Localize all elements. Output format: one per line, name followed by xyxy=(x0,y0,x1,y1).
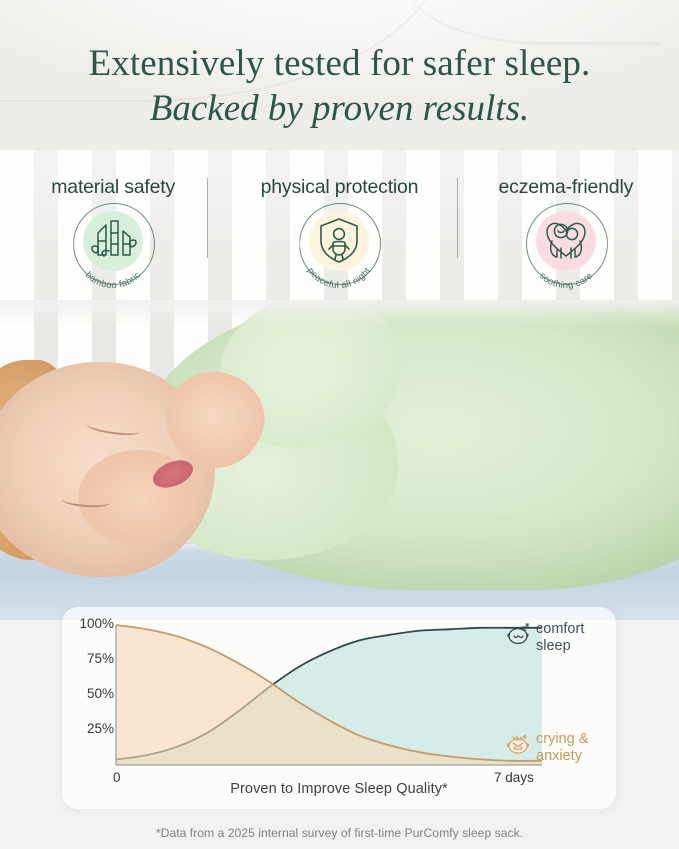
feature-eczema-friendly[interactable]: eczema-friendly xyxy=(453,176,679,285)
sleeping-baby-icon xyxy=(506,623,532,645)
y-axis-tick: 25% xyxy=(62,721,114,736)
legend-comfort-sleep: comfort sleep xyxy=(536,621,616,655)
headboard-scroll-detail xyxy=(407,0,659,45)
legend-label-line-1: comfort sleep xyxy=(536,621,584,654)
x-axis-tick-end: 7 days xyxy=(494,770,534,785)
badge-caption-arc: peaceful all night xyxy=(293,203,385,295)
photo-top-fade xyxy=(0,300,679,326)
page-title: Extensively tested for safer sleep. Back… xyxy=(0,42,679,132)
badge-caption-text: soothing care xyxy=(537,270,594,290)
badge-caption-text: bamboo fabric xyxy=(84,269,143,290)
badge-caption-arc: bamboo fabric xyxy=(67,203,159,295)
promo-page: Extensively tested for safer sleep. Back… xyxy=(0,0,679,849)
badge-caption-arc: soothing care xyxy=(520,203,612,295)
feature-material-safety[interactable]: material safety xyxy=(0,176,226,285)
feature-divider-2 xyxy=(457,178,458,258)
svg-text:soothing care: soothing care xyxy=(537,270,594,290)
feature-badge: soothing care xyxy=(520,203,612,285)
feature-title: physical protection xyxy=(226,176,452,199)
feature-physical-protection[interactable]: physical protection peacefu xyxy=(226,176,452,285)
legend-crying-anxiety: crying & anxiety xyxy=(536,731,616,765)
headline-line-1: Extensively tested for safer sleep. xyxy=(0,42,679,86)
crying-baby-icon xyxy=(504,731,532,755)
svg-text:peaceful all night: peaceful all night xyxy=(306,265,373,290)
x-axis-tick-start: 0 xyxy=(113,770,121,785)
sleep-quality-chart: Proven to Improve Sleep Quality* comfort… xyxy=(62,607,616,809)
legend-label-line-1: crying & anxiety xyxy=(536,731,588,764)
feature-title: material safety xyxy=(0,176,226,199)
y-axis-tick: 50% xyxy=(62,686,114,701)
feature-badge: bamboo fabric xyxy=(67,203,159,285)
baby-photo xyxy=(0,300,679,620)
feature-divider-1 xyxy=(207,178,208,258)
y-axis-tick: 75% xyxy=(62,651,114,666)
feature-title: eczema-friendly xyxy=(453,176,679,199)
svg-text:bamboo fabric: bamboo fabric xyxy=(84,269,143,290)
feature-row: material safety xyxy=(0,176,679,291)
badge-caption-text: peaceful all night xyxy=(306,265,373,290)
y-axis-tick: 100% xyxy=(62,616,114,631)
headline-line-2: Backed by proven results. xyxy=(0,86,679,132)
footnote: *Data from a 2025 internal survey of fir… xyxy=(0,826,679,840)
feature-badge: peaceful all night xyxy=(293,203,385,285)
